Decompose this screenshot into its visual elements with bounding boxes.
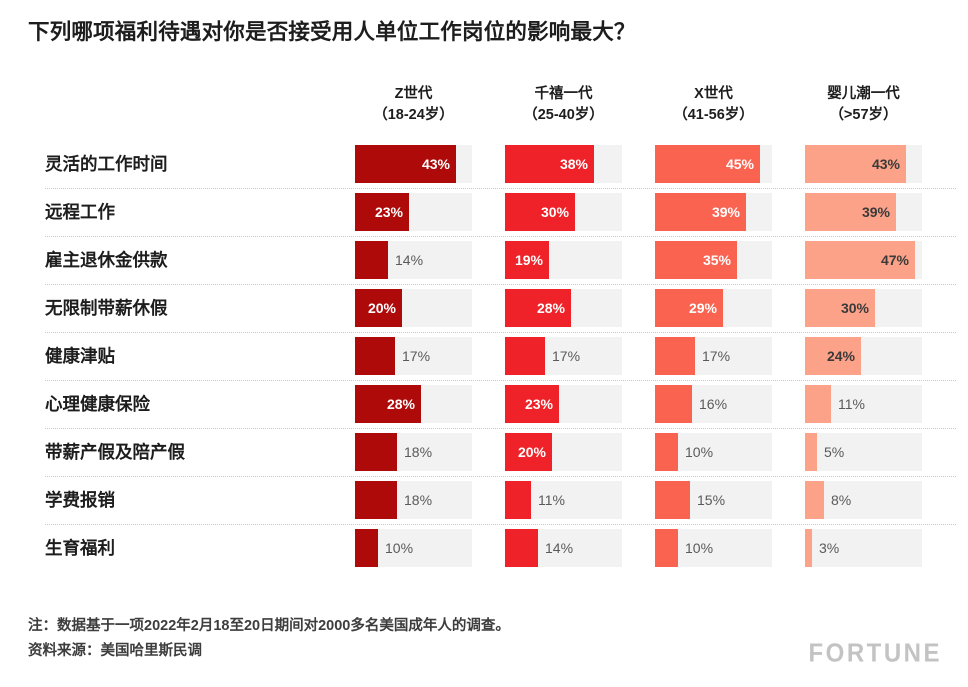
bar[interactable] [805, 529, 812, 567]
bar-value-label: 20% [518, 433, 546, 471]
row-tracks: 28%23%16%11% [355, 380, 922, 428]
bar-track: 35% [655, 241, 772, 279]
bar[interactable] [655, 433, 678, 471]
bar[interactable] [355, 481, 397, 519]
fortune-logo: FORTUNE [809, 639, 943, 669]
bar[interactable] [355, 529, 378, 567]
bar-value-label: 38% [560, 145, 588, 183]
bar-value-label: 43% [422, 145, 450, 183]
row-label: 心理健康保险 [45, 380, 150, 428]
chart-row: 健康津贴17%17%17%24% [0, 332, 968, 380]
bar-track: 10% [655, 433, 772, 471]
bar-value-label: 23% [375, 193, 403, 231]
row-tracks: 17%17%17%24% [355, 332, 922, 380]
column-header-4: 婴儿潮一代（>57岁） [805, 84, 922, 130]
column-header-name: 千禧一代 [505, 84, 622, 105]
bar-track: 43% [355, 145, 472, 183]
bar-value-label: 3% [819, 529, 839, 567]
bar[interactable] [655, 481, 690, 519]
bar[interactable] [505, 337, 545, 375]
bar-track: 14% [505, 529, 622, 567]
bar-track: 23% [505, 385, 622, 423]
bar-value-label: 17% [402, 337, 430, 375]
chart-container: 下列哪项福利待遇对你是否接受用人单位工作岗位的影响最大？ Z世代（18-24岁）… [0, 0, 968, 687]
row-label: 灵活的工作时间 [45, 140, 168, 188]
bar-track: 29% [655, 289, 772, 327]
row-tracks: 14%19%35%47% [355, 236, 922, 284]
column-header-1: Z世代（18-24岁） [355, 84, 472, 130]
bar-value-label: 16% [699, 385, 727, 423]
row-label: 无限制带薪休假 [45, 284, 168, 332]
bar-track: 8% [805, 481, 922, 519]
chart-row: 无限制带薪休假20%28%29%30% [0, 284, 968, 332]
bar-value-label: 17% [702, 337, 730, 375]
bar-track: 10% [655, 529, 772, 567]
bar-track: 17% [655, 337, 772, 375]
bar[interactable] [505, 481, 531, 519]
bar-value-label: 45% [726, 145, 754, 183]
row-label: 学费报销 [45, 476, 115, 524]
footer-notes: 注：数据基于一项2022年2月18至20日期间对2000多名美国成年人的调查。 … [28, 614, 788, 665]
bar-track: 43% [805, 145, 922, 183]
bar[interactable] [505, 529, 538, 567]
bar-value-label: 10% [685, 433, 713, 471]
bar-value-label: 5% [824, 433, 844, 471]
chart-row: 远程工作23%30%39%39% [0, 188, 968, 236]
row-tracks: 10%14%10%3% [355, 524, 922, 572]
column-header-age: （18-24岁） [355, 105, 472, 126]
column-header-age: （25-40岁） [505, 105, 622, 126]
bar-value-label: 39% [712, 193, 740, 231]
bar-track: 28% [505, 289, 622, 327]
bar[interactable] [355, 337, 395, 375]
bar-track: 18% [355, 433, 472, 471]
bar-value-label: 28% [537, 289, 565, 327]
column-header-age: （>57岁） [805, 105, 922, 126]
column-header-2: 千禧一代（25-40岁） [505, 84, 622, 130]
row-label: 健康津贴 [45, 332, 115, 380]
chart-row: 心理健康保险28%23%16%11% [0, 380, 968, 428]
bar-track: 30% [505, 193, 622, 231]
bar-track: 24% [805, 337, 922, 375]
bar-value-label: 10% [385, 529, 413, 567]
bar-value-label: 19% [515, 241, 543, 279]
bar-track: 18% [355, 481, 472, 519]
bar-track: 5% [805, 433, 922, 471]
row-tracks: 23%30%39%39% [355, 188, 922, 236]
bar[interactable] [655, 385, 692, 423]
bar-value-label: 20% [368, 289, 396, 327]
chart-rows: 灵活的工作时间43%38%45%43%远程工作23%30%39%39%雇主退休金… [0, 140, 968, 572]
bar-value-label: 17% [552, 337, 580, 375]
bar-value-label: 39% [862, 193, 890, 231]
chart-row: 生育福利10%14%10%3% [0, 524, 968, 572]
bar-value-label: 11% [838, 385, 865, 423]
bar-value-label: 24% [827, 337, 855, 375]
row-label: 远程工作 [45, 188, 115, 236]
bar[interactable] [805, 385, 831, 423]
row-tracks: 18%11%15%8% [355, 476, 922, 524]
bar-track: 45% [655, 145, 772, 183]
bar-value-label: 14% [395, 241, 423, 279]
column-header-3: X世代（41-56岁） [655, 84, 772, 130]
column-header-age: （41-56岁） [655, 105, 772, 126]
column-header-name: X世代 [655, 84, 772, 105]
bar-track: 23% [355, 193, 472, 231]
bar[interactable] [805, 481, 824, 519]
bar-value-label: 23% [525, 385, 553, 423]
bar-value-label: 35% [703, 241, 731, 279]
chart-row: 灵活的工作时间43%38%45%43% [0, 140, 968, 188]
bar-track: 17% [505, 337, 622, 375]
bar-value-label: 10% [685, 529, 713, 567]
bar-track: 16% [655, 385, 772, 423]
chart-row: 雇主退休金供款14%19%35%47% [0, 236, 968, 284]
chart-row: 学费报销18%11%15%8% [0, 476, 968, 524]
bar-value-label: 11% [538, 481, 565, 519]
bar-value-label: 29% [689, 289, 717, 327]
column-header-name: Z世代 [355, 84, 472, 105]
bar[interactable] [655, 337, 695, 375]
row-tracks: 43%38%45%43% [355, 140, 922, 188]
bar-track: 15% [655, 481, 772, 519]
bar-track: 20% [355, 289, 472, 327]
bar-track: 30% [805, 289, 922, 327]
bar-value-label: 30% [541, 193, 569, 231]
chart-row: 带薪产假及陪产假18%20%10%5% [0, 428, 968, 476]
row-label: 生育福利 [45, 524, 115, 572]
bar-track: 19% [505, 241, 622, 279]
bar-track: 28% [355, 385, 472, 423]
row-label: 带薪产假及陪产假 [45, 428, 185, 476]
bar-track: 3% [805, 529, 922, 567]
bar-track: 14% [355, 241, 472, 279]
bar-track: 10% [355, 529, 472, 567]
bar-track: 39% [655, 193, 772, 231]
row-tracks: 20%28%29%30% [355, 284, 922, 332]
bar-value-label: 15% [697, 481, 725, 519]
bar-track: 38% [505, 145, 622, 183]
bar-value-label: 43% [872, 145, 900, 183]
footnote-source: 资料来源：美国哈里斯民调 [28, 639, 788, 664]
bar[interactable] [355, 241, 388, 279]
row-tracks: 18%20%10%5% [355, 428, 922, 476]
bar-value-label: 47% [881, 241, 909, 279]
bar[interactable] [805, 433, 817, 471]
bar-track: 11% [505, 481, 622, 519]
bar-track: 17% [355, 337, 472, 375]
column-header-name: 婴儿潮一代 [805, 84, 922, 105]
bar-track: 20% [505, 433, 622, 471]
bar-track: 11% [805, 385, 922, 423]
bar[interactable] [655, 529, 678, 567]
bar-track: 39% [805, 193, 922, 231]
bar-value-label: 18% [404, 433, 432, 471]
bar-track: 47% [805, 241, 922, 279]
row-label: 雇主退休金供款 [45, 236, 168, 284]
footnote-data: 注：数据基于一项2022年2月18至20日期间对2000多名美国成年人的调查。 [28, 614, 788, 639]
bar[interactable] [355, 433, 397, 471]
bar-value-label: 30% [841, 289, 869, 327]
page-title: 下列哪项福利待遇对你是否接受用人单位工作岗位的影响最大？ [28, 20, 928, 46]
bar-value-label: 28% [387, 385, 415, 423]
bar-value-label: 14% [545, 529, 573, 567]
bar-value-label: 8% [831, 481, 851, 519]
column-header-row: Z世代（18-24岁）千禧一代（25-40岁）X世代（41-56岁）婴儿潮一代（… [355, 84, 936, 130]
bar-value-label: 18% [404, 481, 432, 519]
